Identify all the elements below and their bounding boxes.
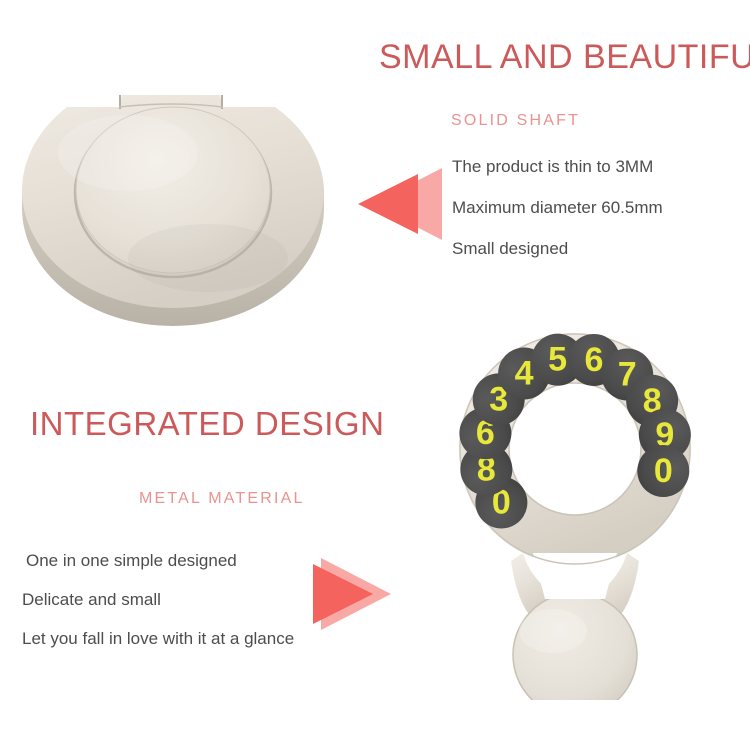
body-line-delicate-small: Delicate and small	[22, 590, 161, 610]
body-line-small-designed: Small designed	[452, 239, 568, 259]
svg-text:4: 4	[515, 355, 534, 393]
subheading-metal-material: METAL MATERIAL	[139, 490, 305, 508]
heading-integrated-design: INTEGRATED DESIGN	[30, 405, 384, 443]
arrow-right-front-triangle	[313, 564, 373, 624]
svg-text:0: 0	[654, 452, 673, 490]
heading-small-and-beautiful: SMALL AND BEAUTIFUL	[379, 38, 750, 77]
body-line-thickness: The product is thin to 3MM	[452, 157, 653, 177]
body-line-fall-in-love: Let you fall in love with it at a glance	[22, 629, 294, 649]
product-photo-number-ring: 0 8 6 3	[415, 325, 735, 700]
arrow-left-front-triangle	[358, 174, 418, 234]
svg-text:5: 5	[548, 341, 567, 379]
subheading-solid-shaft: SOLID SHAFT	[451, 112, 580, 130]
body-line-one-in-one: One in one simple designed	[26, 551, 237, 571]
arrow-right-icon	[313, 558, 405, 630]
body-line-diameter: Maximum diameter 60.5mm	[452, 198, 663, 218]
infographic-page: 0 8 6 3	[0, 0, 750, 750]
arrow-left-icon	[358, 168, 450, 240]
svg-text:6: 6	[584, 341, 603, 379]
product-photo-closed-ring	[8, 58, 338, 328]
